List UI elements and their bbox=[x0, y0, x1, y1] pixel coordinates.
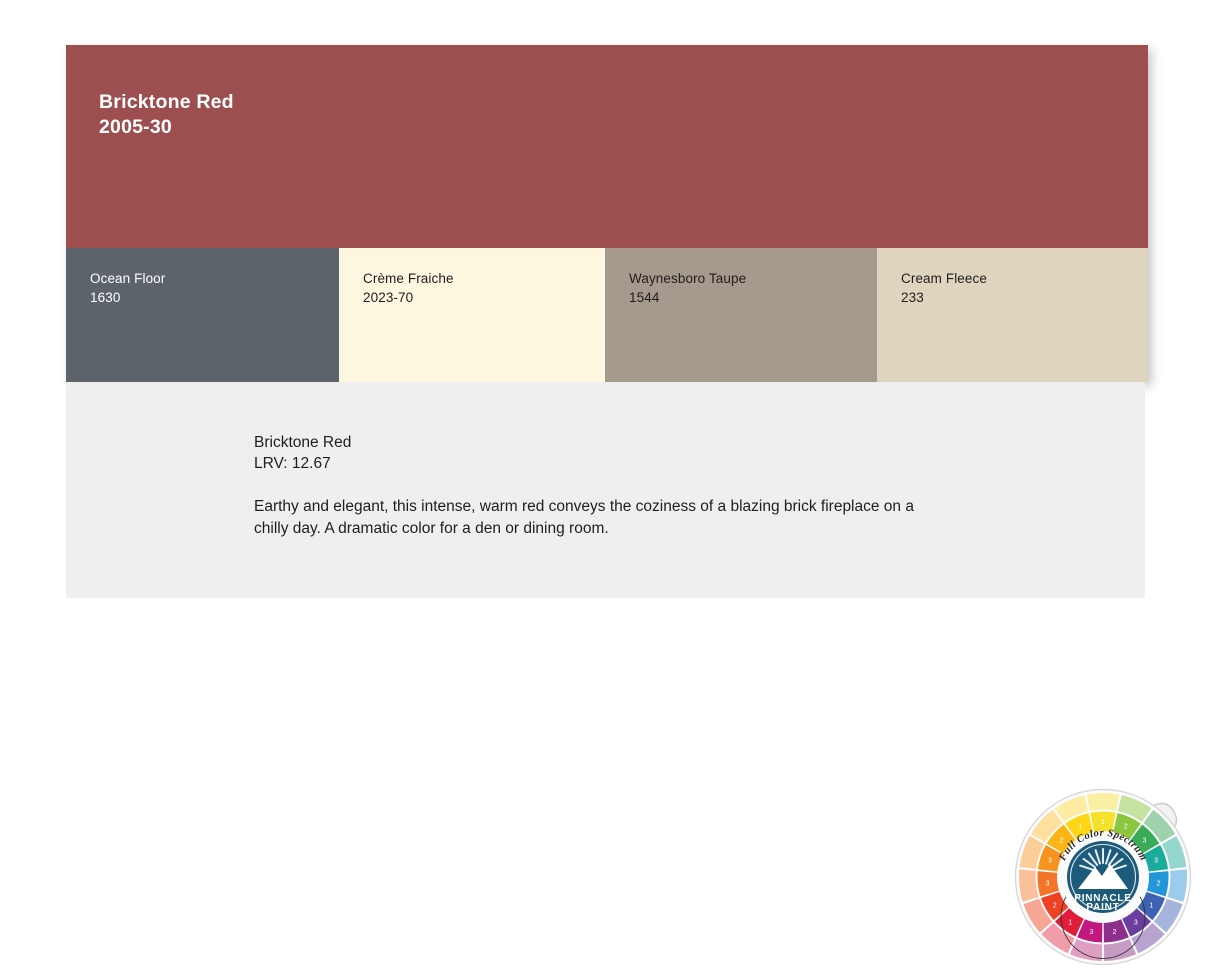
palette-card: Bricktone Red 2005-30 Ocean Floor1630Crè… bbox=[66, 45, 1148, 382]
wheel-segment-number: 2 bbox=[1060, 837, 1064, 844]
palette-swatch[interactable]: Cream Fleece233 bbox=[877, 248, 1148, 382]
palette-swatch-code: 1544 bbox=[629, 288, 877, 307]
info-lrv-value: LRV: 12.67 bbox=[254, 453, 934, 474]
wheel-segment-number: 2 bbox=[1156, 880, 1160, 887]
palette-swatch-code: 2023-70 bbox=[363, 288, 605, 307]
palette-swatch[interactable]: Waynesboro Taupe1544 bbox=[605, 248, 877, 382]
wheel-segment-number: 3 bbox=[1048, 857, 1052, 864]
palette-swatch-name: Ocean Floor bbox=[90, 269, 339, 288]
wheel-segment-number: 1 bbox=[1068, 920, 1072, 927]
info-text-block: Bricktone Red LRV: 12.67 Earthy and eleg… bbox=[254, 432, 934, 539]
wheel-segment-number: 3 bbox=[1142, 837, 1146, 844]
palette-swatch-name: Waynesboro Taupe bbox=[629, 269, 877, 288]
wheel-segment-number: 2 bbox=[1124, 824, 1128, 831]
palette-swatch-name: Cream Fleece bbox=[901, 269, 1148, 288]
palette-swatch[interactable]: Crème Fraiche2023-70 bbox=[339, 248, 605, 382]
wheel-segment-number: 3 bbox=[1046, 880, 1050, 887]
palette-swatch[interactable]: Ocean Floor1630 bbox=[66, 248, 339, 382]
wheel-segment-number: 1 bbox=[1149, 902, 1153, 909]
wheel-segment-number: 3 bbox=[1134, 920, 1138, 927]
info-description: Earthy and elegant, this intense, warm r… bbox=[254, 496, 926, 539]
wheel-segment-number: 1 bbox=[1101, 819, 1105, 826]
companion-swatch-row: Ocean Floor1630Crème Fraiche2023-70Wayne… bbox=[66, 248, 1148, 382]
wheel-segment-number: 3 bbox=[1154, 857, 1158, 864]
hero-color-code: 2005-30 bbox=[99, 115, 1148, 140]
wheel-segment-number: 3 bbox=[1089, 929, 1093, 936]
info-color-name: Bricktone Red bbox=[254, 432, 934, 453]
wheel-segment-number: 2 bbox=[1113, 929, 1117, 936]
palette-swatch-code: 1630 bbox=[90, 288, 339, 307]
palette-swatch-name: Crème Fraiche bbox=[363, 269, 605, 288]
wheel-segment-number: 1 bbox=[1078, 824, 1082, 831]
brand-name-line-2: PAINT bbox=[1086, 902, 1119, 913]
palette-swatch-code: 233 bbox=[901, 288, 1148, 307]
hero-color-name: Bricktone Red bbox=[99, 90, 1148, 115]
color-wheel-logo[interactable]: 123321323123321Full Color SpectrumPINNAC… bbox=[1011, 786, 1207, 968]
info-panel: Bricktone Red LRV: 12.67 Earthy and eleg… bbox=[66, 382, 1145, 598]
hero-color-swatch[interactable]: Bricktone Red 2005-30 bbox=[66, 45, 1148, 248]
wheel-segment-outer bbox=[1087, 793, 1120, 811]
wheel-segment-number: 2 bbox=[1053, 902, 1057, 909]
